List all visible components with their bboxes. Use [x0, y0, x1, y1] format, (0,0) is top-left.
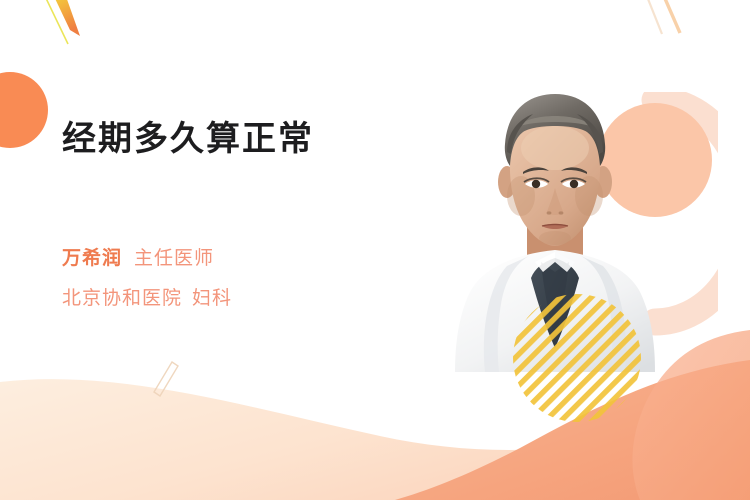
page-title: 经期多久算正常 [62, 118, 314, 161]
orange-dot [0, 72, 48, 148]
streak-thick-top-left [50, 0, 80, 36]
streak-outline-bottom-left [154, 362, 178, 396]
streak-thin-top-left [43, 0, 68, 44]
streak-thin-top-right-a [646, 0, 662, 34]
striped-ball [513, 294, 641, 422]
doctor-primary-line: 万希润主任医师 [62, 249, 214, 268]
doctor-rank: 主任医师 [134, 248, 214, 269]
streak-thin-top-right-b [663, 0, 680, 33]
doctor-portrait-group [455, 72, 685, 372]
video-cover-card: 经期多久算正常 万希润主任医师 北京协和医院妇科 [0, 0, 750, 500]
doctor-hospital: 北京协和医院 [62, 288, 182, 309]
doctor-secondary-line: 北京协和医院妇科 [62, 289, 232, 308]
doctor-department: 妇科 [192, 288, 232, 309]
doctor-name: 万希润 [62, 248, 122, 269]
